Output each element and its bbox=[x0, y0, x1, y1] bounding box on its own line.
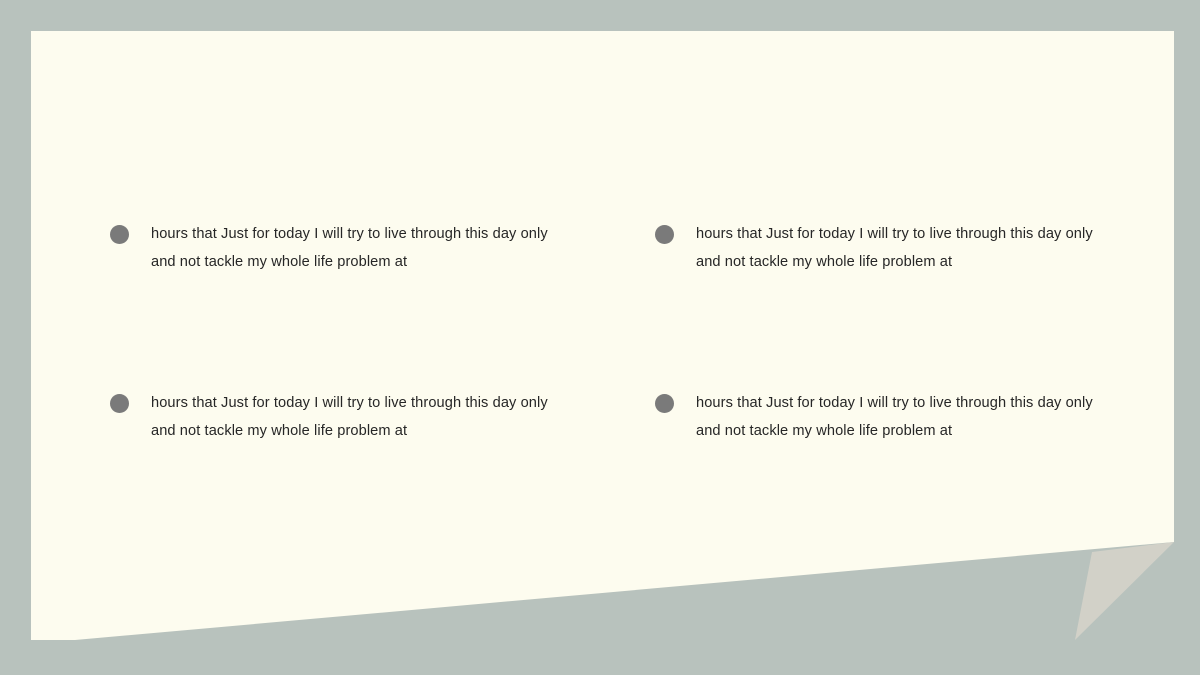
bullet-grid: hours that Just for today I will try to … bbox=[0, 0, 1200, 675]
list-item[interactable]: hours that Just for today I will try to … bbox=[655, 389, 1120, 445]
list-item-text: hours that Just for today I will try to … bbox=[151, 220, 570, 276]
list-item[interactable]: hours that Just for today I will try to … bbox=[655, 220, 1115, 276]
list-item-text: hours that Just for today I will try to … bbox=[696, 220, 1115, 276]
slide-canvas: hours that Just for today I will try to … bbox=[0, 0, 1200, 675]
list-item-text: hours that Just for today I will try to … bbox=[696, 389, 1120, 445]
bullet-dot-icon bbox=[110, 225, 129, 244]
bullet-dot-icon bbox=[655, 225, 674, 244]
list-item[interactable]: hours that Just for today I will try to … bbox=[110, 389, 570, 445]
list-item[interactable]: hours that Just for today I will try to … bbox=[110, 220, 570, 276]
list-item-text: hours that Just for today I will try to … bbox=[151, 389, 570, 445]
bullet-dot-icon bbox=[655, 394, 674, 413]
bullet-dot-icon bbox=[110, 394, 129, 413]
